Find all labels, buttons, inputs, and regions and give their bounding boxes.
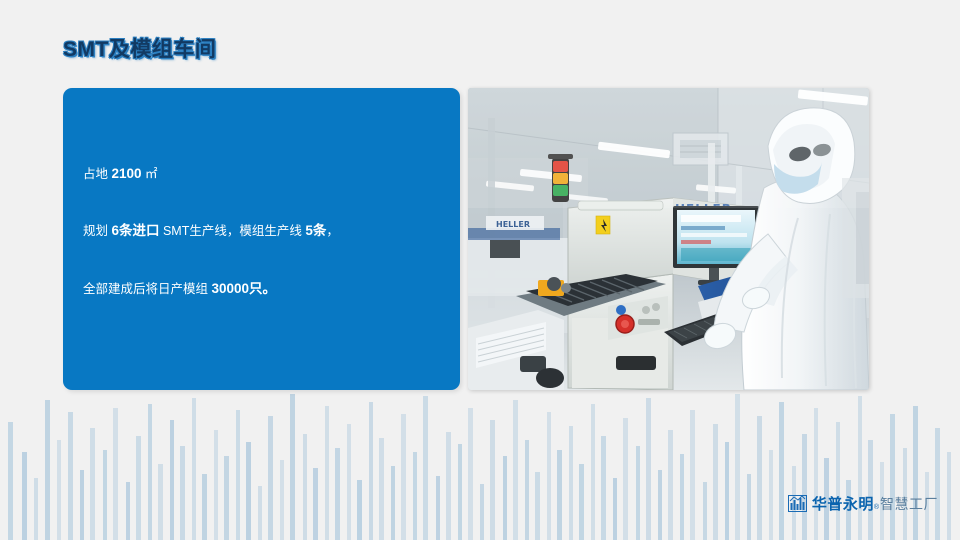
trademark-symbol: ®: [874, 504, 879, 511]
decorative-bar: [503, 456, 507, 540]
decorative-bar: [325, 406, 329, 540]
decorative-bar: [591, 404, 595, 540]
decorative-bar: [258, 486, 262, 540]
decorative-bar: [480, 484, 484, 540]
decorative-bar: [224, 456, 229, 540]
info-line-lines-smt-count: 6条进口: [111, 223, 159, 238]
decorative-bar: [357, 480, 362, 540]
decorative-bar: [579, 464, 584, 540]
decorative-bar: [68, 412, 73, 540]
info-line-area: 占地 2100 ㎡: [83, 164, 443, 184]
slide-canvas: SMT及模组车间 占地 2100 ㎡ 规划 6条进口 SMT生产线，模组生产线 …: [0, 0, 960, 540]
factory-icon: [788, 494, 807, 513]
decorative-bar: [779, 402, 784, 540]
decorative-bar: [214, 430, 218, 540]
decorative-bar: [401, 414, 406, 540]
decorative-bar: [170, 420, 174, 540]
decorative-bar: [148, 404, 152, 540]
decorative-bar: [126, 482, 130, 540]
decorative-bar: [103, 450, 107, 540]
decorative-bar: [468, 408, 473, 540]
info-line-area-prefix: 占地: [83, 167, 111, 181]
decorative-bar: [525, 440, 529, 540]
decorative-bar: [735, 394, 740, 540]
decorative-bar: [423, 396, 428, 540]
decorative-bar: [668, 430, 673, 540]
info-line-area-unit: ㎡: [142, 167, 158, 181]
decorative-bar: [369, 402, 373, 540]
decorative-bar: [690, 410, 695, 540]
decorative-bar: [947, 452, 951, 540]
decorative-bar: [858, 396, 862, 540]
cleanroom-photo-illustration: HELLER HELLER: [468, 88, 869, 390]
decorative-bar: [246, 442, 251, 540]
decorative-bar: [747, 474, 751, 540]
decorative-bar: [80, 470, 84, 540]
decorative-bar: [280, 460, 284, 540]
decorative-bar: [636, 446, 640, 540]
info-line-output-prefix: 全部建成后将日产模组: [83, 282, 211, 296]
decorative-bar: [313, 468, 318, 540]
decorative-bar: [547, 412, 551, 540]
decorative-bar: [180, 446, 185, 540]
decorative-bar: [379, 438, 384, 540]
decorative-bar: [535, 472, 540, 540]
decorative-bar: [814, 408, 818, 540]
decorative-bar: [569, 426, 573, 540]
decorative-bar: [913, 406, 918, 540]
decorative-bar: [45, 400, 50, 540]
info-line-lines: 规划 6条进口 SMT生产线，模组生产线 5条，: [83, 221, 443, 241]
decorative-bar: [802, 434, 807, 540]
decorative-bar: [513, 400, 518, 540]
brand-subtitle: 智慧工厂: [880, 494, 938, 514]
decorative-bar: [680, 454, 684, 540]
info-line-lines-module-count: 5条: [305, 223, 326, 238]
decorative-bar: [202, 474, 207, 540]
info-line-lines-suffix: ，: [326, 224, 339, 238]
decorative-bar: [34, 478, 38, 540]
decorative-bar: [113, 408, 118, 540]
info-line-lines-prefix: 规划: [83, 224, 111, 238]
decorative-bar: [192, 398, 196, 540]
page-title: SMT及模组车间: [63, 33, 216, 63]
decorative-bar: [158, 464, 163, 540]
decorative-bar: [90, 428, 95, 540]
cleanroom-photo: HELLER HELLER: [468, 88, 869, 390]
decorative-bar: [22, 452, 27, 540]
decorative-bar: [436, 476, 440, 540]
decorative-bar: [347, 424, 351, 540]
decorative-bar-pattern: [0, 390, 960, 540]
decorative-bar: [335, 448, 340, 540]
decorative-bar: [836, 422, 840, 540]
decorative-bar: [757, 416, 762, 540]
decorative-bar: [446, 432, 451, 540]
svg-text:HELLER: HELLER: [496, 220, 530, 229]
decorative-bar: [557, 450, 562, 540]
decorative-bar: [703, 482, 707, 540]
decorative-bar: [391, 466, 395, 540]
decorative-bar: [303, 434, 307, 540]
decorative-bar: [613, 478, 617, 540]
decorative-bar: [136, 436, 141, 540]
decorative-bar: [646, 398, 651, 540]
decorative-bar: [713, 424, 718, 540]
brand-logo-text: 华普永明 ® 智慧工厂: [812, 493, 938, 514]
info-line-output-value: 30000只。: [211, 281, 276, 296]
info-panel-text: 占地 2100 ㎡ 规划 6条进口 SMT生产线，模组生产线 5条， 全部建成后…: [83, 164, 443, 299]
info-panel: 占地 2100 ㎡ 规划 6条进口 SMT生产线，模组生产线 5条， 全部建成后…: [63, 88, 460, 390]
decorative-bar: [623, 418, 628, 540]
decorative-bar: [290, 394, 295, 540]
info-line-output: 全部建成后将日产模组 30000只。: [83, 279, 443, 299]
brand-name: 华普永明: [812, 493, 874, 514]
info-line-area-value: 2100: [111, 166, 141, 181]
decorative-bar: [769, 450, 773, 540]
decorative-bar: [236, 410, 240, 540]
decorative-bar: [268, 416, 273, 540]
decorative-bar: [868, 440, 873, 540]
decorative-bar: [725, 442, 729, 540]
decorative-bar: [458, 444, 462, 540]
decorative-bar: [8, 422, 13, 540]
brand-logo: 华普永明 ® 智慧工厂: [788, 493, 938, 514]
info-line-lines-middle: SMT生产线，模组生产线: [160, 224, 306, 238]
decorative-bar: [890, 414, 895, 540]
decorative-bar: [413, 452, 417, 540]
decorative-bar: [57, 440, 61, 540]
decorative-bar: [490, 420, 495, 540]
decorative-bar: [935, 428, 940, 540]
decorative-bar: [658, 470, 662, 540]
decorative-bar: [601, 436, 606, 540]
